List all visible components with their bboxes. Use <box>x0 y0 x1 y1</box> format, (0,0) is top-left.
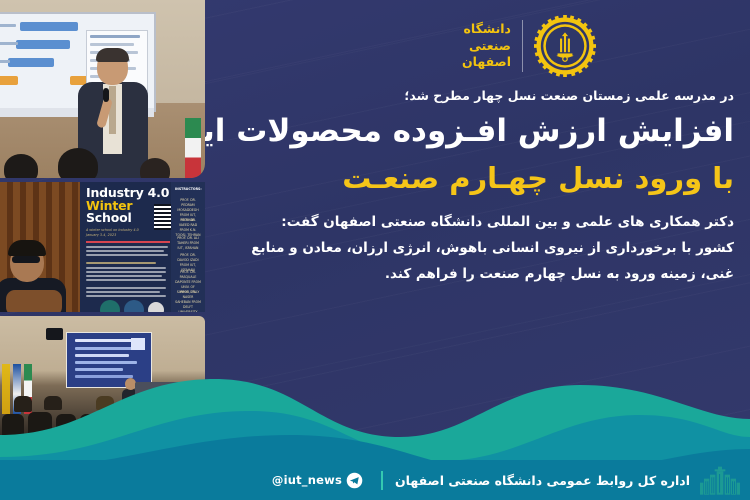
university-logo: دانشگاه صنعتی اصفهان <box>462 14 596 78</box>
logo-divider <box>522 20 523 72</box>
news-poster: دانشگاه صنعتی اصفهان <box>0 0 750 500</box>
footer-organization: اداره کل روابط عمومی دانشگاه صنعتی اصفها… <box>395 473 690 488</box>
logo-line-1: دانشگاه <box>462 21 511 38</box>
logo-line-2: صنعتی <box>462 38 511 55</box>
footer-divider <box>381 471 383 490</box>
logo-line-3: اصفهان <box>462 54 511 71</box>
winter-school-poster: Industry 4.0 Winter School A winter scho… <box>80 182 205 312</box>
poster-photo: Industry 4.0 Winter School A winter scho… <box>0 182 205 312</box>
poster-instructor-2: PROF. DR. VAEED RAD FROM K.N. TOOSI, TEH… <box>175 218 201 238</box>
iut-building-icon <box>700 465 740 495</box>
poster-instructor-6: PROF. DR. NASER SAHEBAN FROM DELFT UNIVE… <box>175 290 201 312</box>
header: دانشگاه صنعتی اصفهان <box>0 0 750 92</box>
poster-instructors-label: INSTRUCTORS: <box>175 187 201 192</box>
footer-social-handle[interactable]: @iut_news <box>272 473 342 487</box>
poster-date: January 3-4, 2023 <box>86 233 139 238</box>
iut-gear-emblem-icon <box>534 15 596 77</box>
telegram-icon[interactable] <box>346 472 363 489</box>
university-logo-text: دانشگاه صنعتی اصفهان <box>462 21 511 71</box>
footer-bar: اداره کل روابط عمومی دانشگاه صنعتی اصفها… <box>0 460 750 500</box>
poster-instructors-panel: INSTRUCTORS: PROF. DR. PEDRAM MOSADDEGH … <box>171 182 205 312</box>
poster-instructor-3: PROF. DR. ALI TAHERI FROM IUT, ISFAHAN <box>175 236 201 251</box>
